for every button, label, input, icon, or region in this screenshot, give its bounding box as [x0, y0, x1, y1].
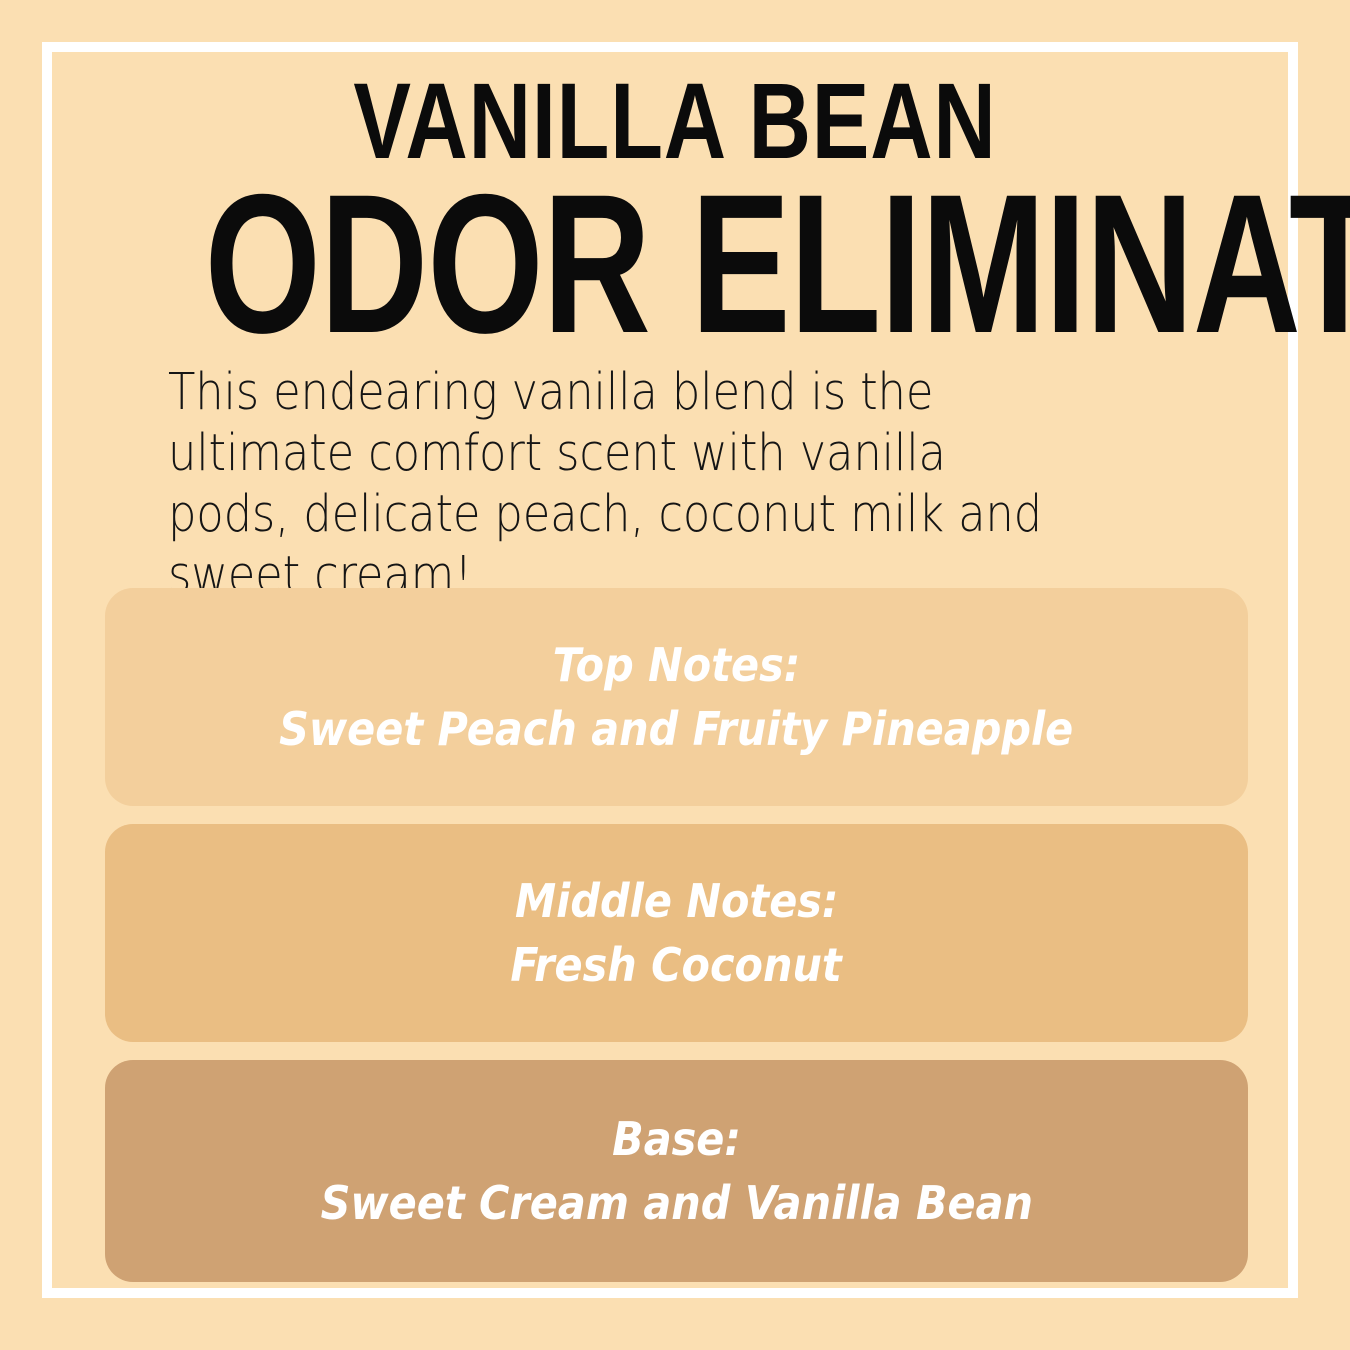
note-label: Middle Notes: [515, 869, 839, 933]
product-description: This endearing vanilla blend is the ulti… [168, 362, 1074, 606]
note-value: Sweet Peach and Fruity Pineapple [279, 697, 1073, 761]
page-title: ODOR ELIMINATING [205, 176, 1146, 352]
title-block: VANILLA BEAN ODOR ELIMINATING [52, 52, 1298, 352]
note-card-base: Base: Sweet Cream and Vanilla Bean [105, 1060, 1248, 1282]
content-area: VANILLA BEAN ODOR ELIMINATING This endea… [52, 52, 1298, 1298]
product-info-graphic: VANILLA BEAN ODOR ELIMINATING This endea… [0, 0, 1350, 1350]
fragrance-notes-list: Top Notes: Sweet Peach and Fruity Pineap… [105, 588, 1248, 1282]
note-label: Base: [612, 1107, 741, 1171]
note-value: Sweet Cream and Vanilla Bean [320, 1171, 1032, 1235]
note-label: Top Notes: [553, 633, 801, 697]
note-value: Fresh Coconut [511, 933, 842, 997]
note-card-middle: Middle Notes: Fresh Coconut [105, 824, 1248, 1042]
note-card-top: Top Notes: Sweet Peach and Fruity Pineap… [105, 588, 1248, 806]
